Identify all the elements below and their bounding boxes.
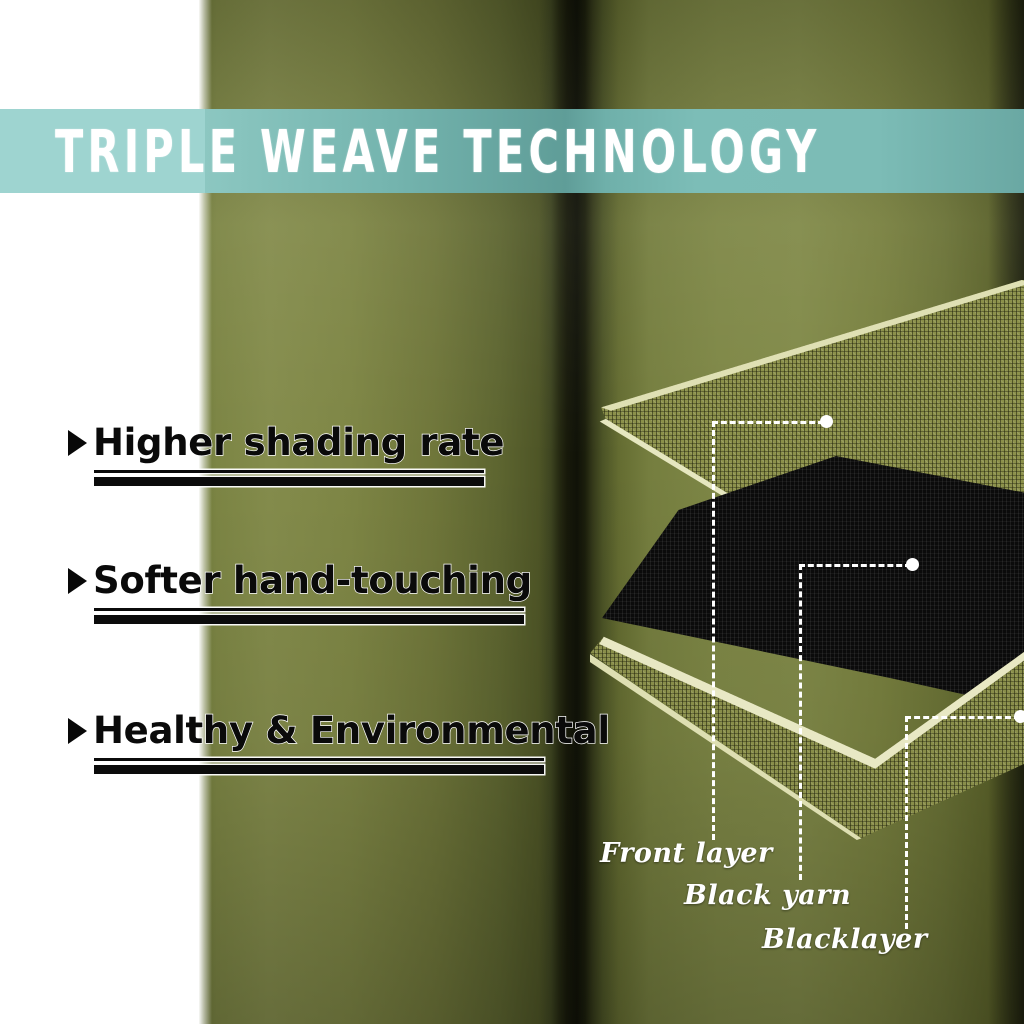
underline-thin	[94, 470, 484, 473]
feature-label: Softer hand-touching	[93, 562, 532, 599]
feature-row: Higher shading rate	[68, 424, 504, 461]
banner: TRIPLE WEAVE TECHNOLOGY	[0, 109, 1024, 193]
banner-title: TRIPLE WEAVE TECHNOLOGY	[55, 117, 821, 186]
dot-marker-icon-black-yarn	[906, 558, 919, 571]
underline-thick	[94, 615, 524, 624]
underline-thick	[94, 477, 484, 486]
leader-line-front-layer-horizontal	[712, 421, 824, 424]
fabric-layer-diagram	[580, 280, 1024, 840]
underline-thin	[94, 608, 524, 611]
caption-front-layer: Front layer	[600, 838, 773, 869]
dot-marker-icon-front-layer	[820, 415, 833, 428]
leader-line-black-layer-vertical	[905, 716, 908, 929]
caption-black-layer: Blacklayer	[762, 924, 928, 955]
underline-thick	[94, 765, 544, 774]
leader-line-black-yarn-horizontal	[799, 564, 911, 567]
feature-row: Softer hand-touching	[68, 562, 532, 599]
leader-line-black-yarn-vertical	[799, 564, 802, 880]
feature-item-2: Softer hand-touching	[68, 562, 532, 624]
feature-label: Healthy & Environmental	[93, 712, 610, 749]
leader-line-front-layer-vertical	[712, 421, 715, 840]
feature-underline	[94, 758, 544, 774]
underline-thin	[94, 758, 544, 761]
right-triangle-icon	[68, 568, 87, 594]
caption-black-yarn: Black yarn	[684, 880, 851, 911]
feature-row: Healthy & Environmental	[68, 712, 610, 749]
right-triangle-icon	[68, 718, 87, 744]
feature-underline	[94, 608, 524, 624]
feature-item-3: Healthy & Environmental	[68, 712, 610, 774]
feature-label: Higher shading rate	[93, 424, 504, 461]
feature-item-1: Higher shading rate	[68, 424, 504, 486]
product-feature-graphic: TRIPLE WEAVE TECHNOLOGY Higher shading r…	[0, 0, 1024, 1024]
leader-line-black-layer-horizontal	[905, 716, 1020, 719]
right-triangle-icon	[68, 430, 87, 456]
dot-marker-icon-black-layer	[1014, 710, 1024, 723]
feature-underline	[94, 470, 484, 486]
